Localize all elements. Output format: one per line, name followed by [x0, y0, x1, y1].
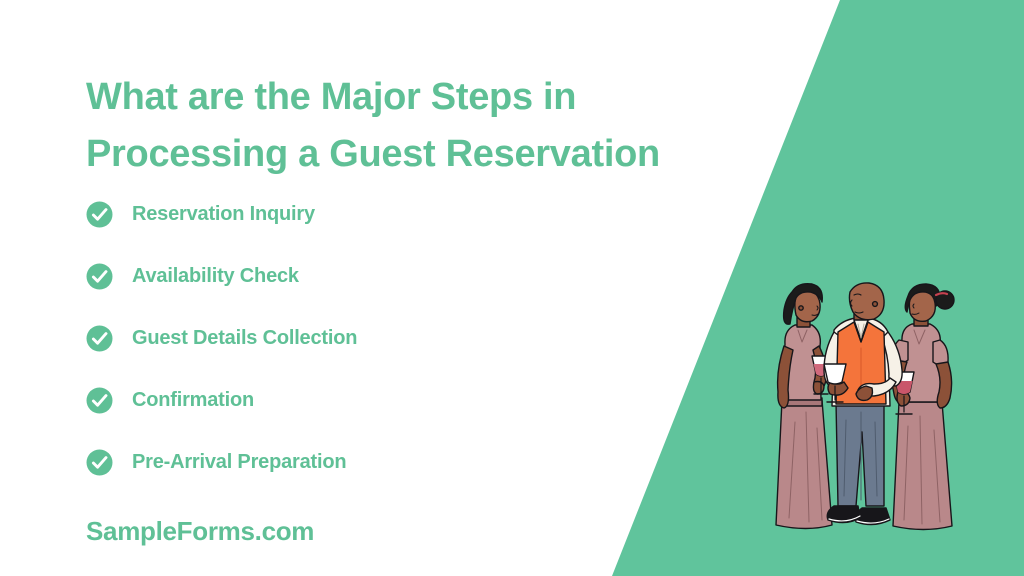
page-title: What are the Major Steps in Processing a… [86, 69, 766, 183]
brand-watermark: SampleForms.com [86, 516, 314, 547]
step-label: Availability Check [132, 265, 299, 288]
list-item: Availability Check [86, 245, 686, 307]
page-title-line-1: What are the Major Steps in [86, 69, 766, 126]
content-column: What are the Major Steps in Processing a… [0, 0, 780, 576]
figure-man-center [824, 283, 902, 525]
infographic-canvas: What are the Major Steps in Processing a… [0, 0, 1024, 576]
step-label: Pre-Arrival Preparation [132, 451, 346, 474]
check-circle-icon [86, 263, 113, 290]
list-item: Pre-Arrival Preparation [86, 431, 686, 493]
check-circle-icon [86, 325, 113, 352]
check-circle-icon [86, 387, 113, 414]
step-label: Guest Details Collection [132, 327, 357, 350]
page-title-line-2: Processing a Guest Reservation [86, 126, 766, 183]
step-label: Confirmation [132, 389, 254, 412]
steps-list: Reservation Inquiry Availability Check G… [86, 183, 686, 493]
check-circle-icon [86, 449, 113, 476]
list-item: Guest Details Collection [86, 307, 686, 369]
three-guests-with-wine-glasses-illustration [762, 282, 972, 540]
step-label: Reservation Inquiry [132, 203, 315, 226]
list-item: Confirmation [86, 369, 686, 431]
check-circle-icon [86, 201, 113, 228]
list-item: Reservation Inquiry [86, 183, 686, 245]
figure-woman-right [892, 284, 954, 530]
figure-woman-left [776, 284, 832, 529]
